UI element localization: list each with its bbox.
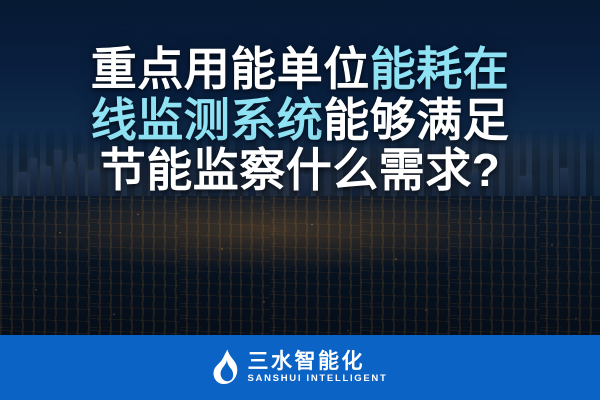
headline-line-3-white: 节能监察什么需求?: [100, 144, 501, 196]
logo-name-en: SANSHUI INTELLIGENT: [248, 374, 388, 384]
headline-line-1: 重点用能单位能耗在: [18, 44, 582, 95]
headline-line-1-cyan: 能耗在: [370, 43, 510, 95]
logo-text-block: 三水智能化 SANSHUI INTELLIGENT: [248, 351, 388, 384]
footer-brand-bar: 三水智能化 SANSHUI INTELLIGENT: [0, 335, 600, 400]
headline-line-2-white: 能够满足: [323, 94, 509, 146]
headline-line-2: 线监测系统能够满足: [18, 95, 582, 146]
headline-line-2-cyan: 线监测系统: [91, 94, 324, 146]
logo: 三水智能化 SANSHUI INTELLIGENT: [213, 349, 388, 387]
logo-name-cn: 三水智能化: [248, 351, 388, 372]
promo-banner: 重点用能单位能耗在 线监测系统能够满足 节能监察什么需求? 三水智能化 SANS…: [0, 0, 600, 400]
headline-block: 重点用能单位能耗在 线监测系统能够满足 节能监察什么需求?: [0, 44, 600, 196]
headline-line-3: 节能监察什么需求?: [18, 145, 582, 196]
flame-droplet-icon: [213, 349, 239, 387]
headline-line-1-white: 重点用能单位: [91, 43, 370, 95]
